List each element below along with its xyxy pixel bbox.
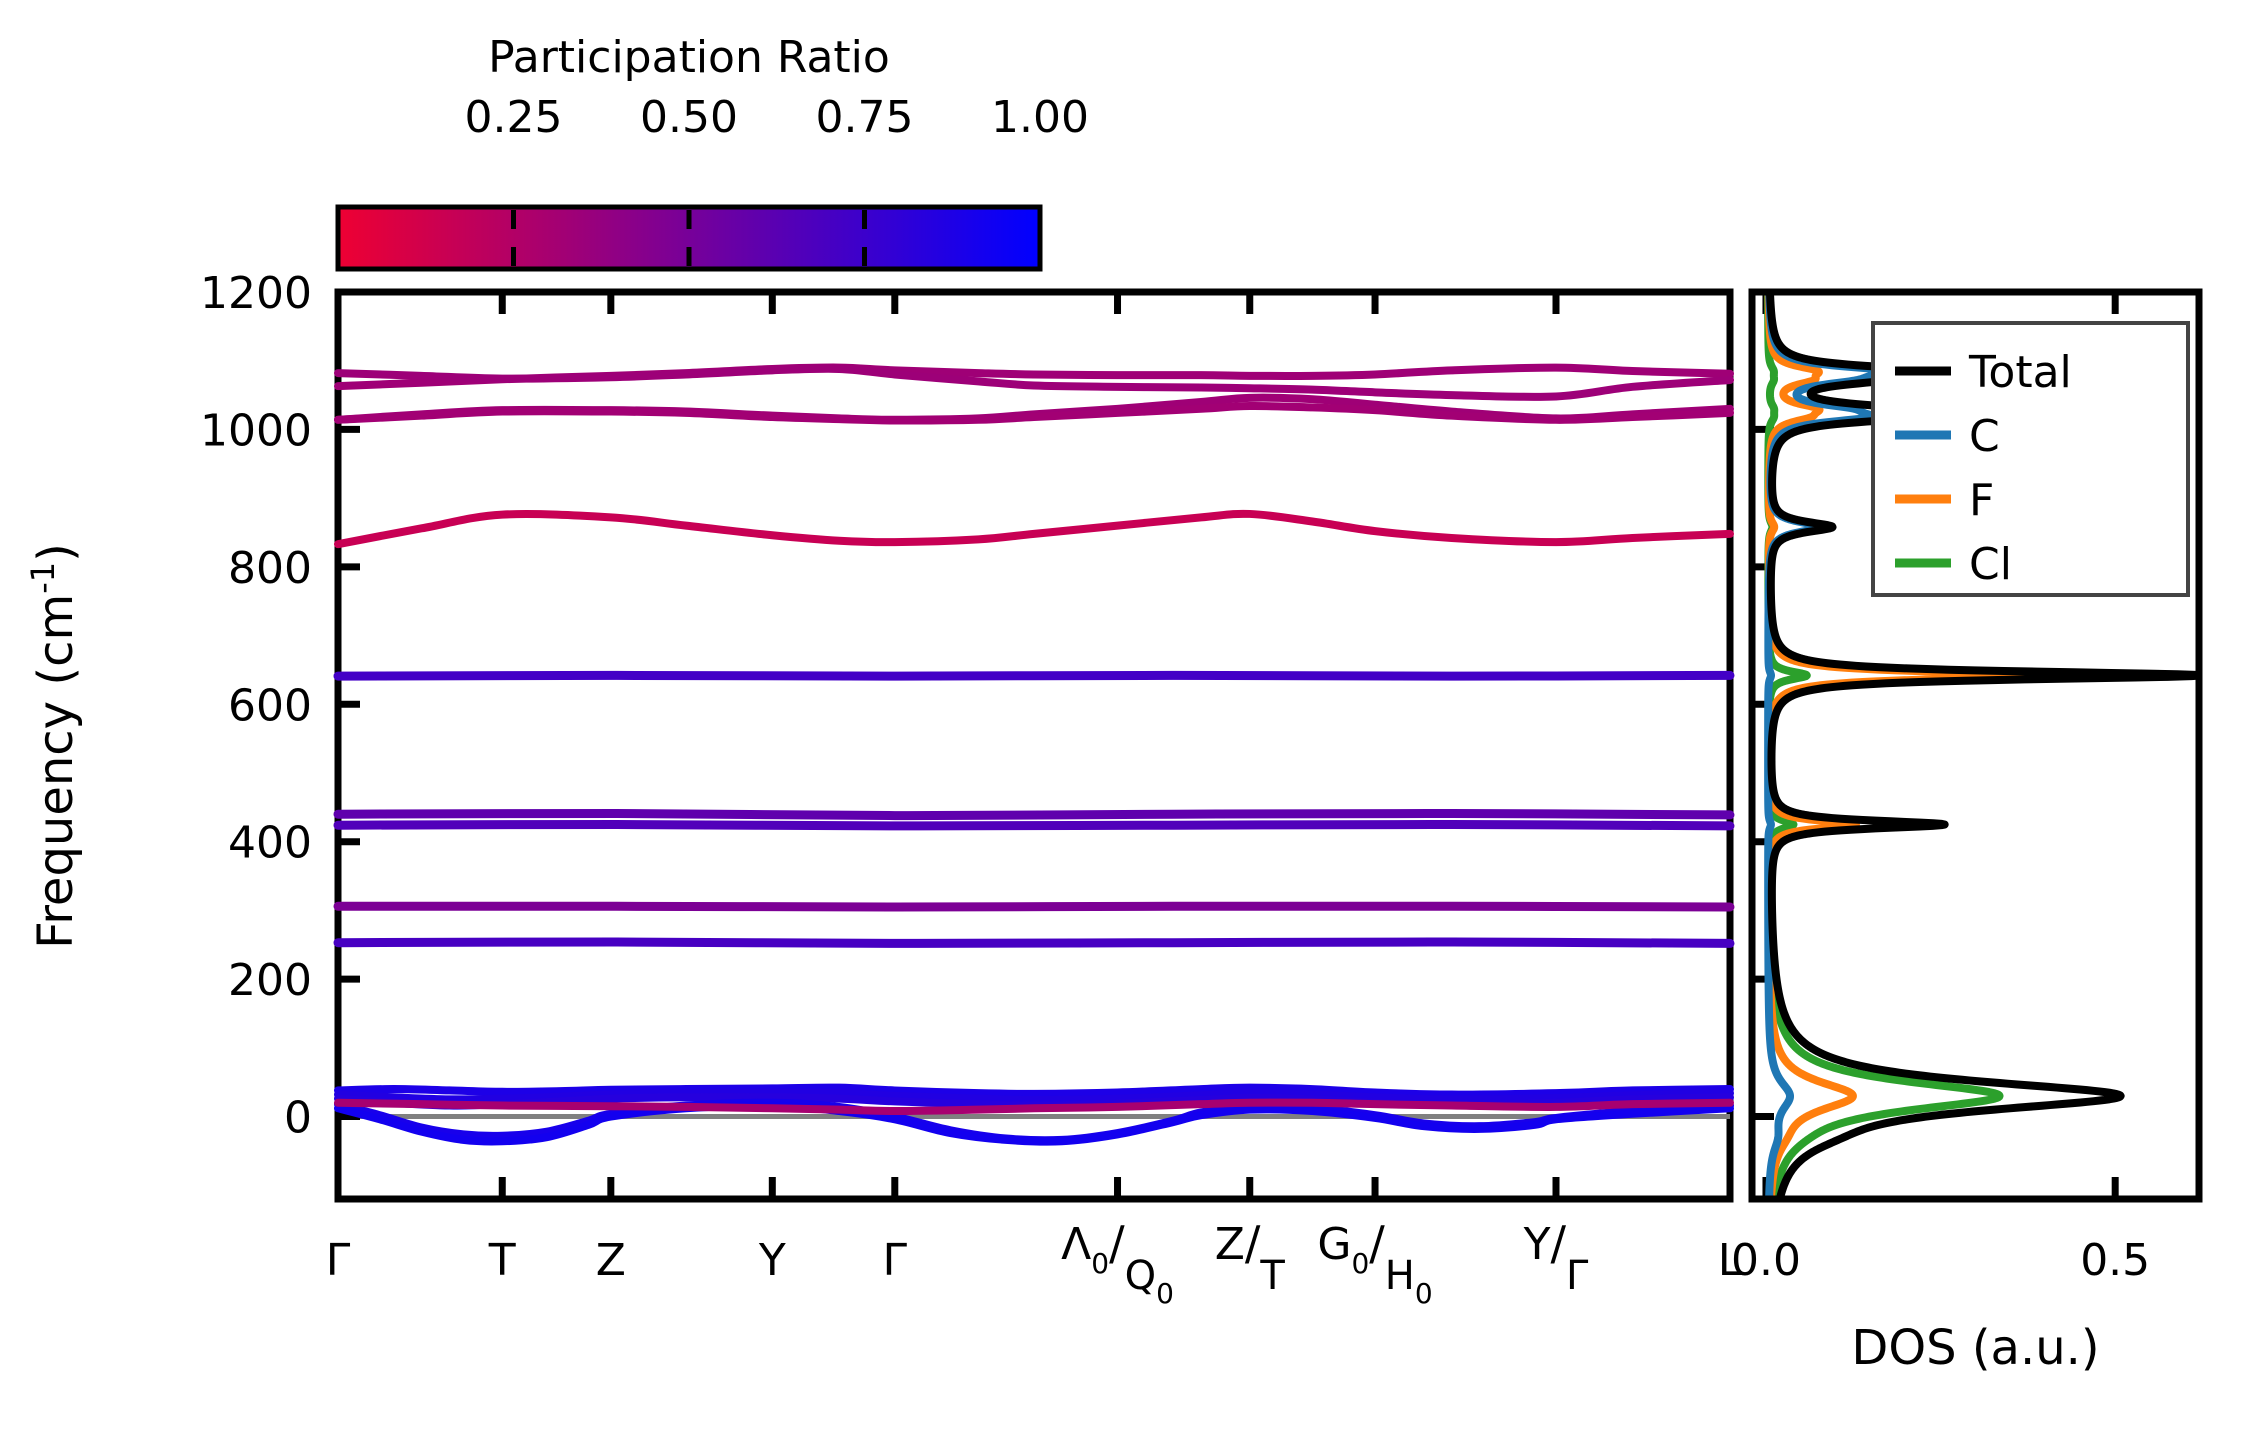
x-axis-tick-label: Y xyxy=(758,1235,786,1286)
y-axis-tick-label: 1000 xyxy=(200,405,312,456)
legend-label-total: Total xyxy=(1968,347,2072,398)
x-label-slash: / xyxy=(1369,1216,1385,1270)
x-axis-tick-label-group: Γ xyxy=(326,1235,351,1286)
x-label-slash: / xyxy=(1109,1216,1125,1270)
x-label-numerator-sub: 0 xyxy=(1351,1247,1369,1280)
x-axis-tick-label: Λ0/Q0 xyxy=(1061,1216,1174,1310)
x-axis-tick-label: Z/T xyxy=(1215,1216,1286,1299)
band-curve xyxy=(338,514,1730,544)
legend-label-cl: Cl xyxy=(1969,539,2012,590)
x-label-numerator: Λ xyxy=(1061,1219,1091,1270)
x-axis-tick-label-group: Z/T xyxy=(1215,1216,1286,1299)
dos-x-axis-label: DOS (a.u.) xyxy=(1851,1320,2099,1376)
x-label-denominator: T xyxy=(1259,1253,1285,1299)
x-label-denominator-sub: 0 xyxy=(1415,1277,1433,1310)
colorbar-tick-label: 0.25 xyxy=(465,92,563,143)
figure-canvas: Participation Ratio0.250.500.751.0002004… xyxy=(0,0,2259,1455)
dos-x-tick-label: 0.5 xyxy=(2080,1235,2150,1286)
y-axis-tick-label: 800 xyxy=(228,543,312,594)
x-axis-tick-label-group: G0/H0 xyxy=(1317,1216,1432,1310)
band-structure-curves xyxy=(338,368,1730,1142)
bands-axes-frame xyxy=(338,292,1730,1199)
y-axis-tick-label: 0 xyxy=(284,1093,312,1144)
y-axis-tick-label: 400 xyxy=(228,818,312,869)
colorbar-tick-label: 0.50 xyxy=(640,92,738,143)
x-label-slash: / xyxy=(1551,1216,1567,1270)
figure-root: Participation Ratio0.250.500.751.0002004… xyxy=(0,0,2259,1455)
y-axis-label-group: Frequency (cm-1) xyxy=(24,543,84,949)
x-axis-tick-label: Y/Γ xyxy=(1523,1216,1589,1299)
x-axis-tick-label: Γ xyxy=(326,1235,351,1286)
band-curve xyxy=(338,675,1730,676)
colorbar-tick-label: 0.75 xyxy=(816,92,914,143)
x-label-denominator-sub: 0 xyxy=(1156,1277,1174,1310)
colorbar-title: Participation Ratio xyxy=(488,32,890,83)
y-axis-label: Frequency (cm-1) xyxy=(24,543,84,949)
x-axis-tick-label: Γ xyxy=(883,1235,908,1286)
x-label-slash: / xyxy=(1245,1216,1261,1270)
band-curve xyxy=(338,942,1730,943)
x-label-numerator-sub: 0 xyxy=(1091,1247,1109,1280)
dos-x-tick-label: 0.0 xyxy=(1731,1235,1801,1286)
legend-label-f: F xyxy=(1969,475,1994,526)
band-curve xyxy=(338,825,1730,826)
y-axis-tick-label: 200 xyxy=(228,955,312,1006)
x-label-denominator: Q xyxy=(1125,1253,1156,1299)
y-axis-label-exponent: -1 xyxy=(24,562,62,594)
x-axis-tick-label: Z xyxy=(596,1235,626,1286)
x-axis-tick-label-group: Γ xyxy=(883,1235,908,1286)
x-axis-tick-label: G0/H0 xyxy=(1317,1216,1432,1310)
x-axis-tick-label-group: Λ0/Q0 xyxy=(1061,1216,1174,1310)
x-label-denominator: H xyxy=(1385,1253,1415,1299)
x-axis-tick-label-group: T xyxy=(488,1235,516,1286)
x-axis-tick-label: T xyxy=(488,1235,516,1286)
y-axis-label-tail: ) xyxy=(28,543,84,562)
y-axis-tick-label: 1200 xyxy=(200,268,312,319)
x-label-numerator: Z xyxy=(1215,1219,1245,1270)
x-axis-tick-label-group: Y xyxy=(758,1235,786,1286)
x-label-numerator: G xyxy=(1317,1219,1351,1270)
x-axis-tick-label-group: Z xyxy=(596,1235,626,1286)
band-curve xyxy=(338,813,1730,815)
band-curve xyxy=(338,906,1730,907)
legend-label-c: C xyxy=(1969,411,2000,462)
x-axis-tick-label-group: Y/Γ xyxy=(1523,1216,1589,1299)
x-label-denominator: Γ xyxy=(1566,1253,1589,1299)
y-axis-label-main: Frequency (cm xyxy=(28,594,84,949)
y-axis-tick-label: 600 xyxy=(228,680,312,731)
x-label-numerator: Y xyxy=(1523,1219,1551,1270)
colorbar-tick-label: 1.00 xyxy=(991,92,1089,143)
